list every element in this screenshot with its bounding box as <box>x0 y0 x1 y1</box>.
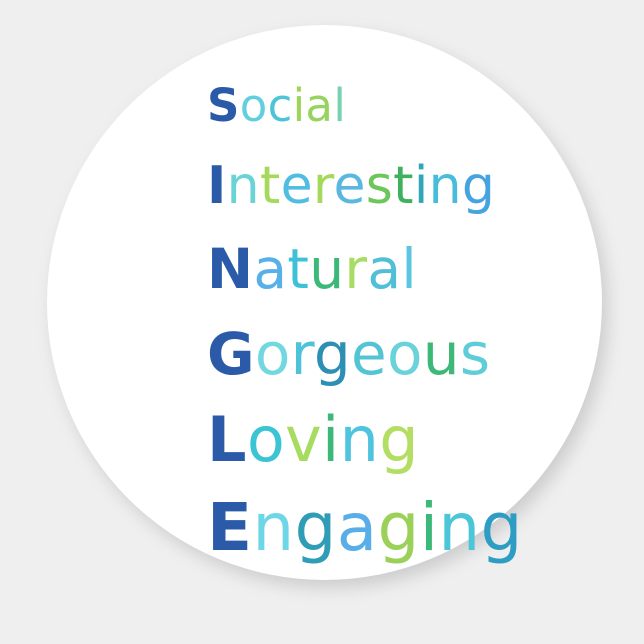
poem-glyph: t <box>260 156 281 216</box>
poem-glyph: o <box>387 320 423 388</box>
poem-glyph: a <box>305 79 333 132</box>
poem-line-loving: Loving <box>207 409 419 471</box>
poem-glyph: i <box>293 79 306 132</box>
poem-line-engaging: Engaging <box>207 495 523 561</box>
poem-glyph: I <box>207 156 227 216</box>
poem-glyph: N <box>207 237 253 301</box>
poem-glyph: g <box>314 320 351 388</box>
poem-glyph: o <box>247 403 285 476</box>
poem-line-social: Social <box>207 83 346 128</box>
poem-glyph: s <box>460 320 491 388</box>
poem-glyph: i <box>322 403 340 476</box>
poem-glyph: i <box>420 489 439 566</box>
poem-line-natural: Natural <box>207 242 417 297</box>
poem-glyph: e <box>333 156 365 216</box>
poem-glyph: v <box>285 403 322 476</box>
poem-glyph: n <box>340 403 380 476</box>
poem-glyph: s <box>366 156 393 216</box>
poem-glyph: L <box>207 403 247 476</box>
poem-glyph: r <box>344 237 367 301</box>
poem-line-interesting: Interesting <box>207 160 495 212</box>
poem-glyph: c <box>268 79 293 132</box>
acrostic-poem: SocialInterestingNaturalGorgeousLovingEn… <box>0 0 644 644</box>
poem-glyph: a <box>253 237 287 301</box>
poem-glyph: r <box>313 156 334 216</box>
poem-line-gorgeous: Gorgeous <box>207 325 490 383</box>
poem-glyph: G <box>207 320 255 388</box>
poem-glyph: l <box>401 237 417 301</box>
poem-glyph: a <box>337 489 378 566</box>
poem-glyph: E <box>207 489 252 566</box>
sticker-product-canvas: SocialInterestingNaturalGorgeousLovingEn… <box>0 0 644 644</box>
poem-glyph: o <box>240 79 268 132</box>
poem-glyph: g <box>379 403 419 476</box>
poem-glyph: t <box>393 156 414 216</box>
poem-glyph: g <box>480 489 522 566</box>
poem-glyph: u <box>309 237 344 301</box>
poem-glyph: g <box>295 489 337 566</box>
poem-glyph: n <box>429 156 462 216</box>
poem-glyph: g <box>377 489 419 566</box>
poem-glyph: r <box>291 320 314 388</box>
poem-glyph: e <box>351 320 387 388</box>
poem-glyph: u <box>423 320 460 388</box>
poem-glyph: g <box>462 156 495 216</box>
poem-glyph: n <box>227 156 260 216</box>
poem-glyph: e <box>281 156 313 216</box>
poem-glyph: S <box>207 79 240 132</box>
poem-glyph: a <box>367 237 401 301</box>
poem-glyph: i <box>414 156 429 216</box>
poem-glyph: l <box>333 79 346 132</box>
poem-glyph: t <box>287 237 309 301</box>
poem-glyph: n <box>438 489 480 566</box>
poem-glyph: n <box>252 489 294 566</box>
poem-glyph: o <box>255 320 291 388</box>
